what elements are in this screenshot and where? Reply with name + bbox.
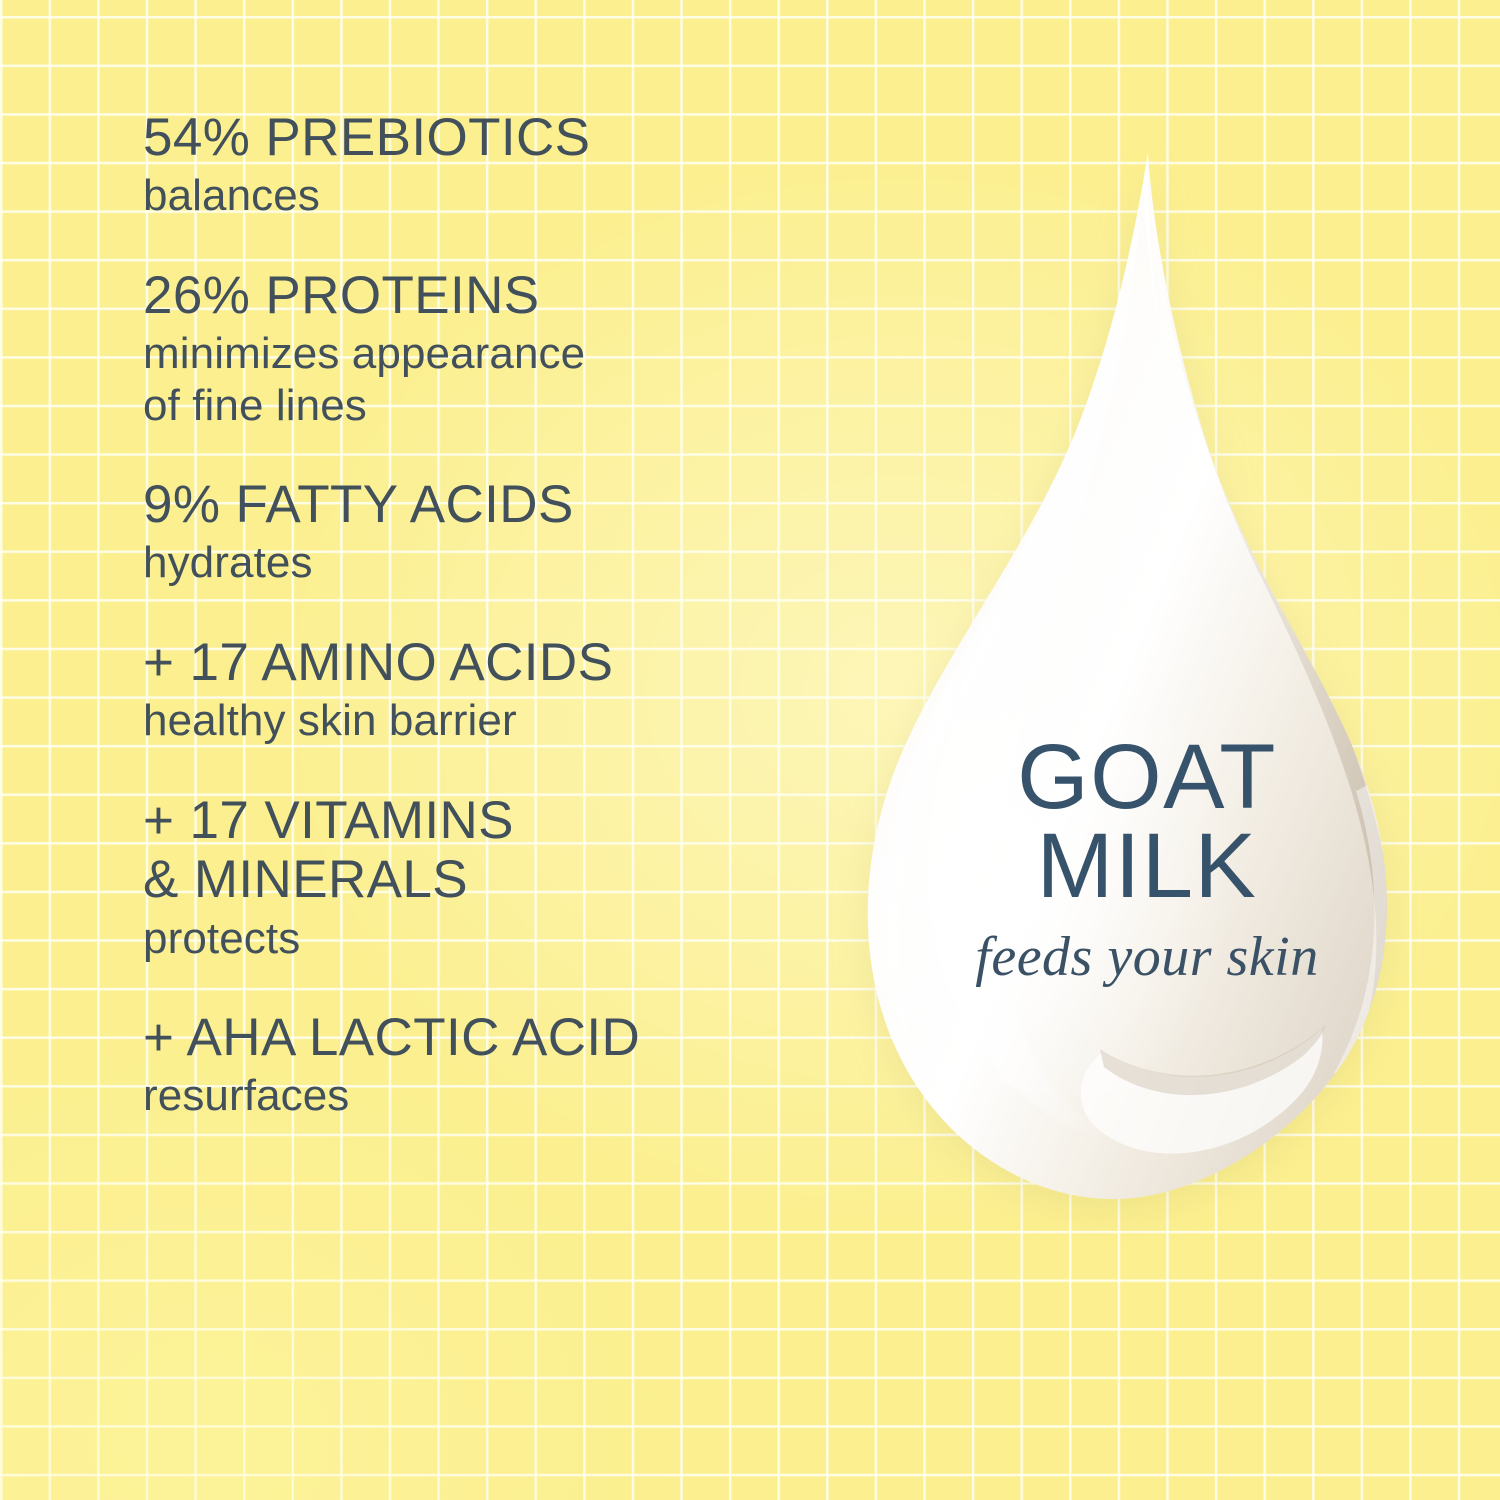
fact-headline: 26% PROTEINS (143, 266, 843, 325)
milk-droplet: GOAT MILK feeds your skin (852, 145, 1442, 1207)
fact-headline: + 17 AMINO ACIDS (143, 633, 843, 692)
list-item: 9% FATTY ACIDS hydrates (143, 475, 843, 589)
ingredient-facts-list: 54% PREBIOTICS balances 26% PROTEINS min… (143, 108, 843, 1122)
list-item: 26% PROTEINS minimizes appearance of fin… (143, 266, 843, 431)
fact-benefit: resurfaces (143, 1070, 843, 1121)
list-item: + 17 AMINO ACIDS healthy skin barrier (143, 633, 843, 747)
fact-benefit: balances (143, 170, 843, 221)
fact-headline: + AHA LACTIC ACID (143, 1008, 843, 1067)
fact-headline: 54% PREBIOTICS (143, 108, 843, 167)
fact-benefit: minimizes appearance of fine lines (143, 328, 843, 431)
fact-headline: + 17 VITAMINS & MINERALS (143, 791, 843, 910)
list-item: 54% PREBIOTICS balances (143, 108, 843, 222)
fact-headline: 9% FATTY ACIDS (143, 475, 843, 534)
fact-benefit: protects (143, 913, 843, 964)
list-item: + AHA LACTIC ACID resurfaces (143, 1008, 843, 1122)
fact-benefit: healthy skin barrier (143, 695, 843, 746)
list-item: + 17 VITAMINS & MINERALS protects (143, 791, 843, 964)
milk-droplet-icon (852, 145, 1442, 1207)
fact-benefit: hydrates (143, 537, 843, 588)
goat-milk-ingredient-poster: 54% PREBIOTICS balances 26% PROTEINS min… (0, 0, 1500, 1500)
